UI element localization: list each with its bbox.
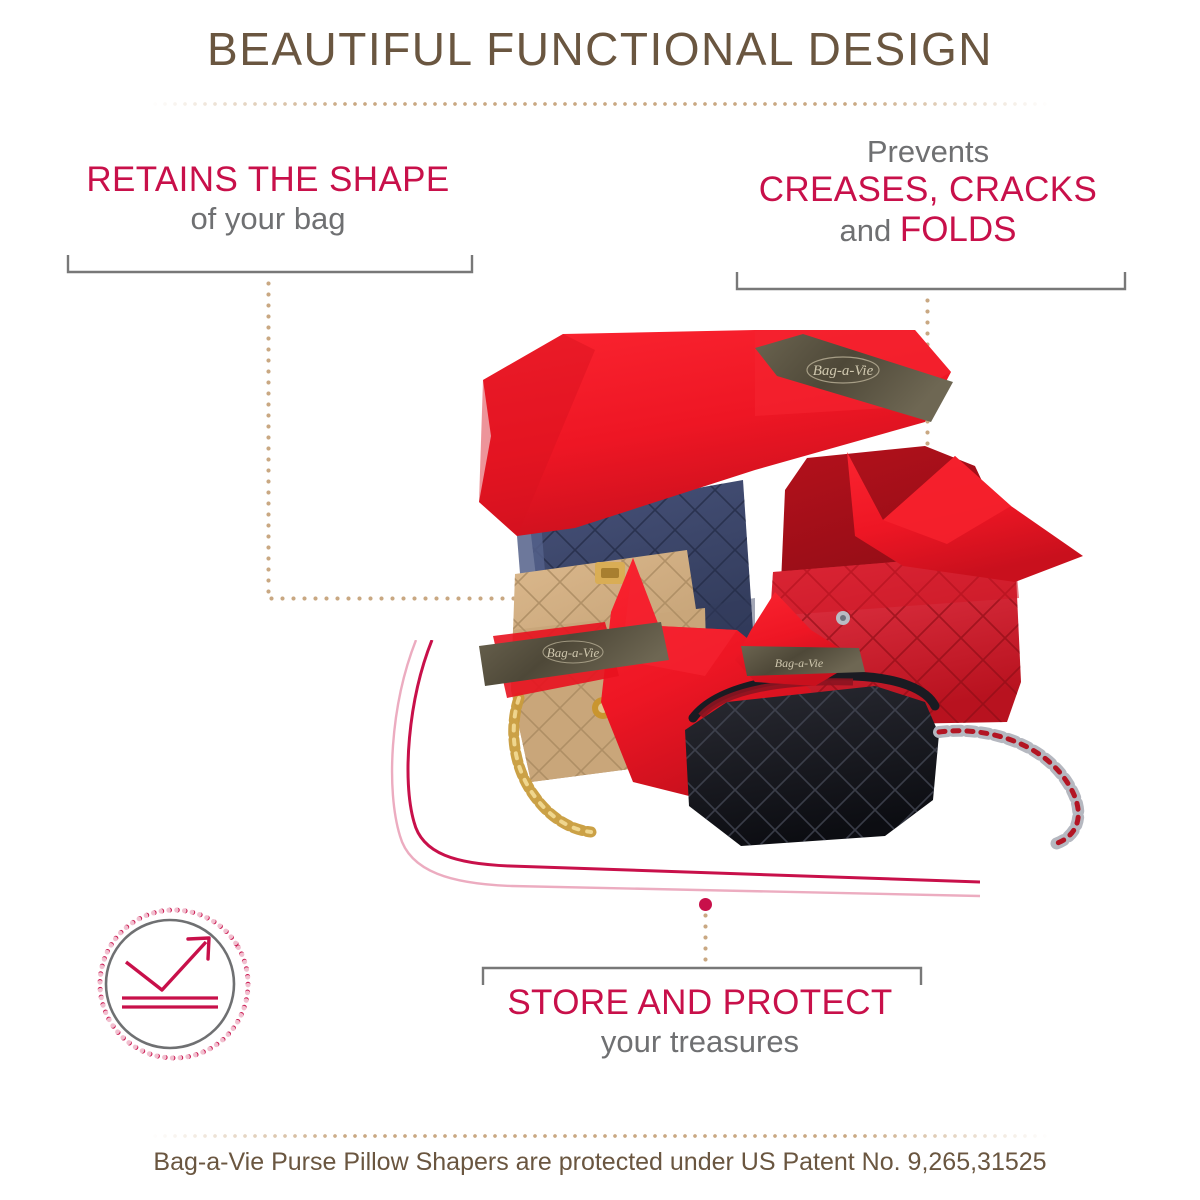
page-title: BEAUTIFUL FUNCTIONAL DESIGN [0, 22, 1200, 76]
callout-store-headline: STORE AND PROTECT [450, 983, 950, 1023]
callout-retains-subline: of your bag [8, 200, 528, 237]
callout-prevents-folds: FOLDS [900, 210, 1017, 249]
dotted-ring-icon [96, 906, 252, 1062]
patent-footer-text: Bag-a-Vie Purse Pillow Shapers are prote… [0, 1148, 1200, 1177]
badge-circle-outline [106, 920, 234, 1048]
decorative-swoosh [360, 640, 980, 930]
bracket-prevents [729, 267, 1133, 297]
rising-arrow-over-lines-icon [122, 938, 218, 1007]
callout-prevents-conjunction: and [839, 213, 899, 248]
callout-prevents: Prevents CREASES, CRACKS and FOLDS [688, 133, 1168, 251]
callout-prevents-subline: and FOLDS [688, 210, 1168, 251]
callout-retains-the-shape: RETAINS THE SHAPE of your bag [8, 160, 528, 237]
callout-prevents-headline: CREASES, CRACKS [688, 170, 1168, 210]
shape-retention-badge [96, 906, 252, 1062]
leader-line-store-vertical [703, 910, 708, 962]
leader-line-retains-vertical [266, 278, 271, 598]
brand-label-text: Bag-a-Vie [813, 363, 874, 379]
dotted-divider-bottom [150, 1133, 1050, 1139]
bracket-retains [60, 250, 480, 280]
callout-retains-headline: RETAINS THE SHAPE [8, 160, 528, 200]
infographic-canvas: BEAUTIFUL FUNCTIONAL DESIGN RETAINS THE … [0, 0, 1200, 1200]
dotted-divider-top [150, 101, 1050, 107]
callout-store-and-protect: STORE AND PROTECT your treasures [450, 983, 950, 1060]
callout-store-subline: your treasures [450, 1023, 950, 1060]
callout-prevents-lead: Prevents [688, 133, 1168, 170]
